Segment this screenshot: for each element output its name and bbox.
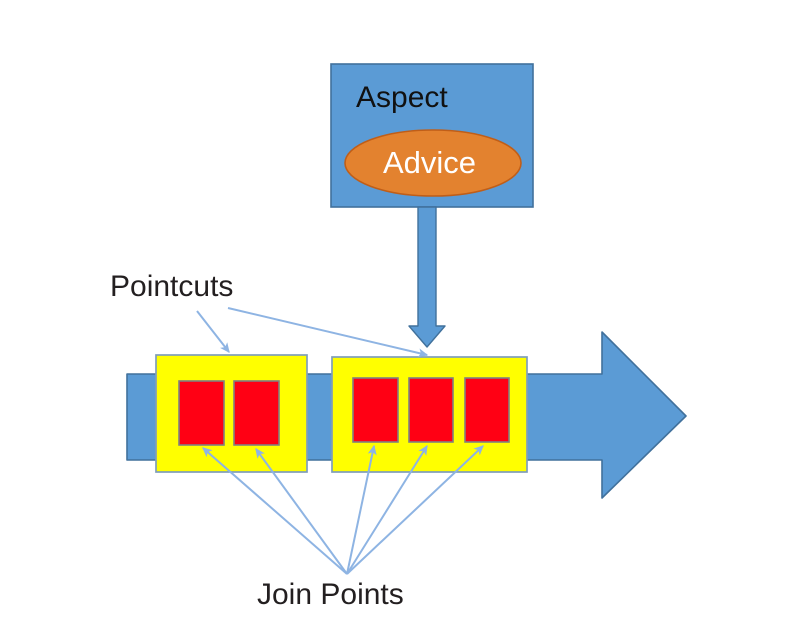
join-point-4 xyxy=(409,378,453,442)
aspect-label: Aspect xyxy=(356,83,448,113)
pointcut-connector-2 xyxy=(228,308,427,355)
pointcut-connector-1 xyxy=(197,311,229,352)
pointcut-connectors xyxy=(197,308,427,355)
advice-weaving-arrow xyxy=(409,207,445,347)
pointcut-group-2 xyxy=(332,357,527,472)
join-point-3 xyxy=(353,378,398,442)
join-point-2 xyxy=(234,381,279,445)
join-point-5 xyxy=(465,378,509,442)
diagram-canvas: Aspect Advice Pointcuts Join Points xyxy=(0,0,800,629)
pointcuts-label: Pointcuts xyxy=(110,272,233,302)
pointcut-group-1 xyxy=(156,355,307,472)
advice-label: Advice xyxy=(383,147,476,178)
join-points-label: Join Points xyxy=(257,580,404,610)
join-point-1 xyxy=(179,381,224,445)
